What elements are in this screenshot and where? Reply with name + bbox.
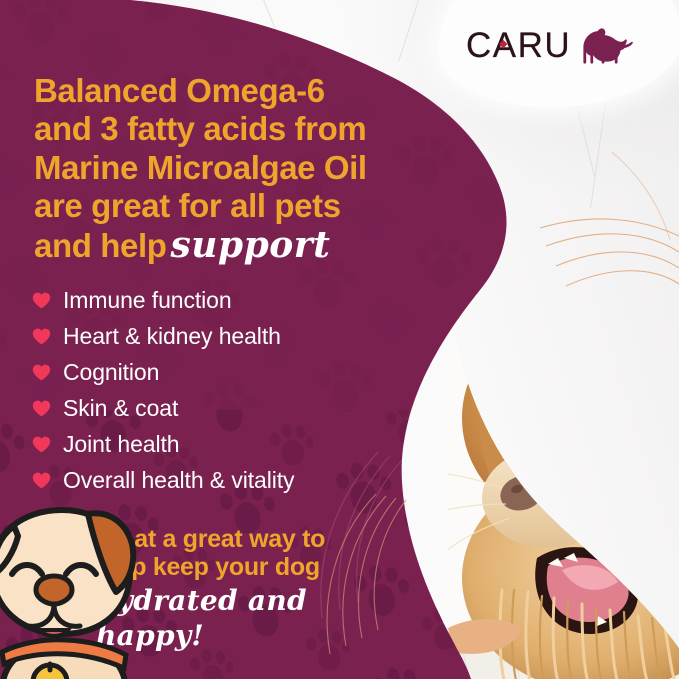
headline-line-2: and 3 fatty acids from [34, 110, 434, 148]
heart-icon [32, 435, 51, 454]
benefits-list: Immune function Heart & kidney health Co… [32, 282, 412, 498]
headline-script-word: support [170, 224, 330, 266]
heart-icon [32, 327, 51, 346]
heart-icon [32, 399, 51, 418]
list-item: Cognition [32, 354, 412, 390]
dog-silhouette-icon [577, 25, 633, 65]
headline-line-5-text: and help [34, 227, 166, 264]
list-item-label: Immune function [63, 289, 232, 312]
list-item: Heart & kidney health [32, 318, 412, 354]
list-item-label: Joint health [63, 433, 179, 456]
cartoon-dog [0, 492, 154, 679]
headline-line-3: Marine Microalgae Oil [34, 149, 434, 187]
logo-wordmark: CARU [466, 28, 571, 63]
headline-line-1: Balanced Omega-6 [34, 72, 434, 110]
heart-icon: ◆ [499, 40, 508, 49]
list-item: Immune function [32, 282, 412, 318]
headline: Balanced Omega-6 and 3 fatty acids from … [34, 72, 434, 267]
list-item: Joint health [32, 426, 412, 462]
headline-line-5: and helpsupport [34, 225, 434, 267]
list-item-label: Heart & kidney health [63, 325, 281, 348]
heart-icon [32, 291, 51, 310]
headline-line-4: are great for all pets [34, 187, 434, 225]
heart-icon [32, 471, 51, 490]
list-item-label: Skin & coat [63, 397, 178, 420]
advertisement-canvas: CARU ◆ Balanced Omega-6 and 3 fatty acid… [0, 0, 679, 679]
list-item-label: Cognition [63, 361, 159, 384]
caru-logo[interactable]: CARU ◆ [466, 21, 640, 69]
heart-icon [32, 363, 51, 382]
list-item: Skin & coat [32, 390, 412, 426]
list-item-label: Overall health & vitality [63, 469, 294, 492]
